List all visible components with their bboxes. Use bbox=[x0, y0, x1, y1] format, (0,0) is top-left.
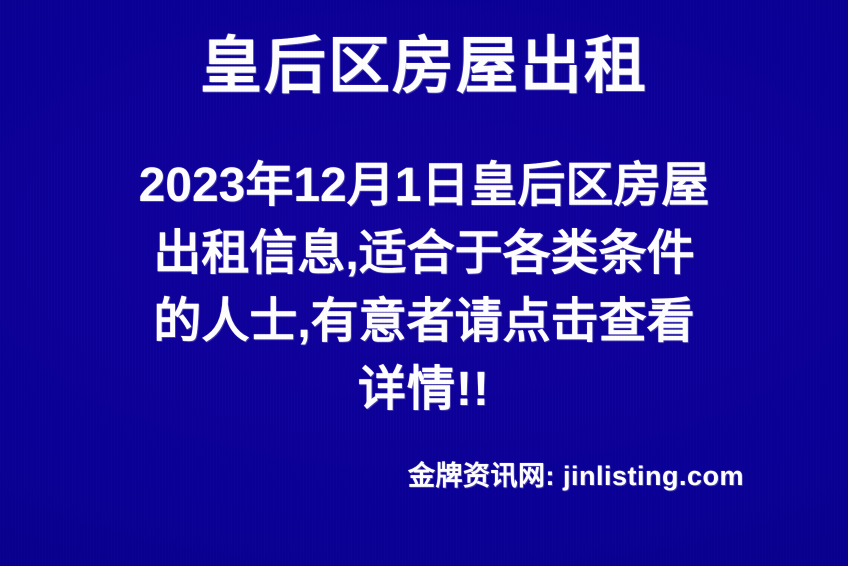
rental-ad-poster: 皇后区房屋出租 2023年12月1日皇后区房屋 出租信息,适合于各类条件 的人士… bbox=[0, 0, 848, 566]
ad-body-text: 2023年12月1日皇后区房屋 出租信息,适合于各类条件 的人士,有意者请点击查… bbox=[104, 152, 744, 424]
ad-body-line-3: 的人士,有意者请点击查看 bbox=[104, 288, 744, 356]
ad-body-line-2: 出租信息,适合于各类条件 bbox=[104, 220, 744, 288]
site-attribution: 金牌资讯网: jinlisting.com bbox=[408, 458, 744, 494]
page-title: 皇后区房屋出租 bbox=[0, 28, 848, 106]
ad-body-line-1: 2023年12月1日皇后区房屋 bbox=[104, 152, 744, 220]
ad-body-line-4: 详情!! bbox=[104, 356, 744, 424]
